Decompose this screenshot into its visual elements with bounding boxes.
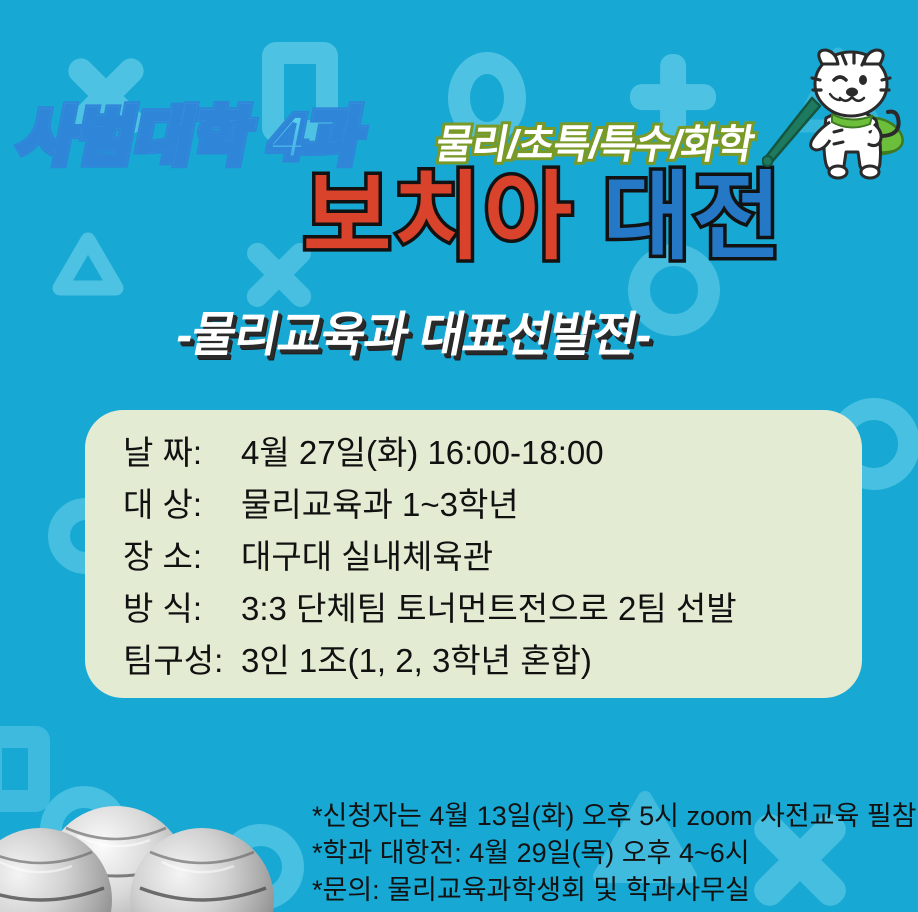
note-line: *문의: 물리교육과학생회 및 학과사무실 (312, 872, 917, 909)
detail-label: 팀구성: (123, 644, 241, 677)
detail-value: 4월 27일(화) 16:00-18:00 (241, 436, 862, 469)
detail-label: 날 짜: (123, 436, 241, 469)
detail-row-team: 팀구성: 3인 1조(1, 2, 3학년 혼합) (123, 644, 862, 677)
detail-row-format: 방 식: 3:3 단체팀 토너먼트전으로 2팀 선발 (123, 592, 862, 625)
detail-row-audience: 대 상: 물리교육과 1~3학년 (123, 488, 862, 521)
detail-value: 물리교육과 1~3학년 (241, 488, 862, 521)
title-word-daejeon: 대전 (603, 164, 784, 271)
subjects-label: 물리/초특/특수/화학 (432, 112, 759, 170)
detail-label: 장 소: (123, 540, 241, 573)
event-poster: 사범대학 4과 사범대학 4과 물리/초특/특수/화학 보치아 대전 -물리교육… (0, 0, 918, 912)
note-line: *신청자는 4월 13일(화) 오후 5시 zoom 사전교육 필참 (312, 798, 917, 835)
detail-value: 3인 1조(1, 2, 3학년 혼합) (241, 644, 862, 677)
page-title: 보치아 대전 (303, 168, 783, 269)
note-line: *학과 대항전: 4월 29일(목) 오후 4~6시 (312, 835, 917, 872)
event-details-card: 날 짜: 4월 27일(화) 16:00-18:00 대 상: 물리교육과 1~… (85, 410, 862, 698)
tagline: -물리교육과 대표선발전- (171, 295, 659, 365)
detail-label: 대 상: (123, 488, 241, 521)
detail-row-date: 날 짜: 4월 27일(화) 16:00-18:00 (123, 436, 862, 469)
boccia-balls-image (0, 788, 294, 912)
detail-label: 방 식: (123, 592, 241, 625)
tiger-mascot-icon (762, 40, 918, 185)
footer-notes: *신청자는 4월 13일(화) 오후 5시 zoom 사전교육 필참 *학과 대… (312, 798, 917, 909)
detail-value: 3:3 단체팀 토너먼트전으로 2팀 선발 (241, 592, 862, 625)
title-word-bocha: 보치아 (303, 164, 574, 271)
detail-row-location: 장 소: 대구대 실내체육관 (123, 540, 862, 573)
eyebrow-title: 사범대학 4과 (13, 86, 374, 176)
detail-value: 대구대 실내체육관 (241, 540, 862, 573)
